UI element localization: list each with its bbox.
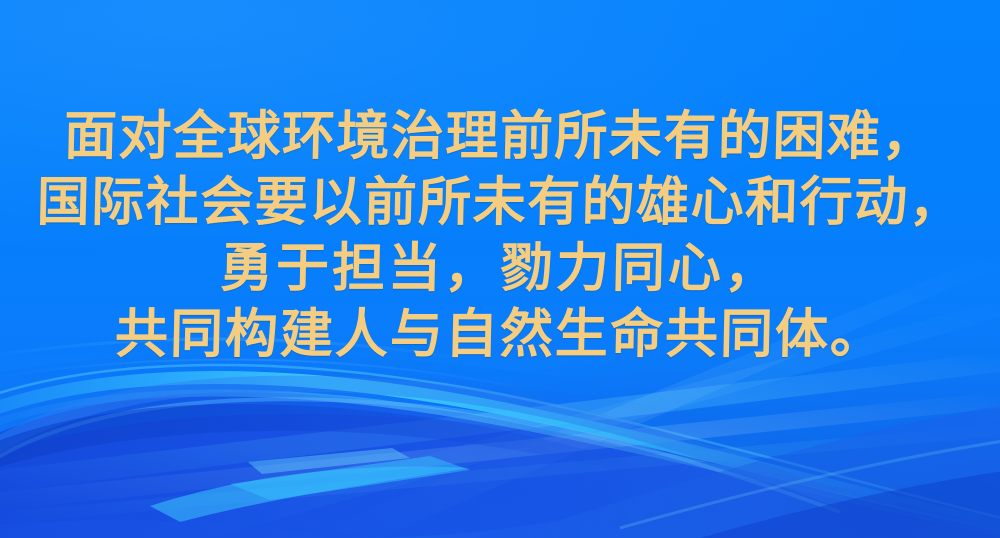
headline-line-1: 面对全球环境治理前所未有的困难，: [0, 103, 1000, 169]
headline-line-4: 共同构建人与自然生命共同体。: [0, 301, 1000, 367]
headline-line-3: 勇于担当，勠力同心，: [0, 235, 1000, 301]
poster-canvas: 面对全球环境治理前所未有的困难， 国际社会要以前所未有的雄心和行动， 勇于担当，…: [0, 0, 1000, 538]
headline-block: 面对全球环境治理前所未有的困难， 国际社会要以前所未有的雄心和行动， 勇于担当，…: [0, 103, 1000, 367]
headline-line-2: 国际社会要以前所未有的雄心和行动，: [0, 169, 1000, 235]
